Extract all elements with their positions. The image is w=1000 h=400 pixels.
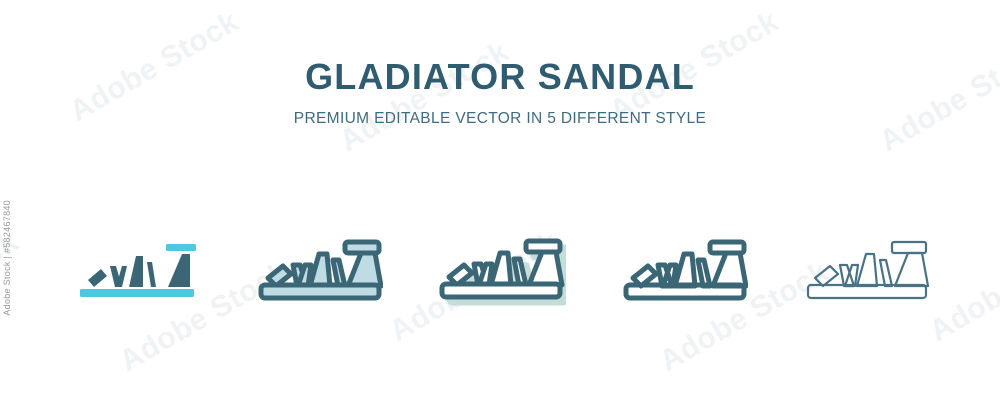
stock-credit-watermark: Adobe Stock | #582467840 [2, 200, 12, 316]
sandal-outline-group [261, 242, 381, 298]
sandal-straps-filled [88, 254, 190, 287]
heading-block: GLADIATOR SANDAL PREMIUM EDITABLE VECTOR… [0, 58, 1000, 128]
page-subtitle: PREMIUM EDITABLE VECTOR IN 5 DIFFERENT S… [0, 110, 1000, 128]
poster-canvas: Adobe Stock Adobe Stock Adobe Stock Adob… [0, 0, 1000, 400]
gladiator-sandal-two-tone-icon[interactable] [60, 215, 210, 315]
watermark-tile: Adobe Stock [0, 395, 125, 400]
sandal-outline-group [442, 241, 562, 297]
sandal-outline-group [626, 242, 746, 298]
gladiator-sandal-filled-outline-icon[interactable] [243, 215, 393, 315]
watermark-tile: Adobe Stock [494, 395, 675, 400]
gladiator-sandal-bold-outline-icon[interactable] [608, 215, 758, 315]
icon-style-row [60, 215, 940, 315]
gladiator-sandal-shadow-icon[interactable] [425, 215, 575, 315]
sandal-outline-group [808, 242, 928, 298]
page-title: GLADIATOR SANDAL [0, 58, 1000, 96]
gladiator-sandal-thin-outline-icon[interactable] [790, 215, 940, 315]
